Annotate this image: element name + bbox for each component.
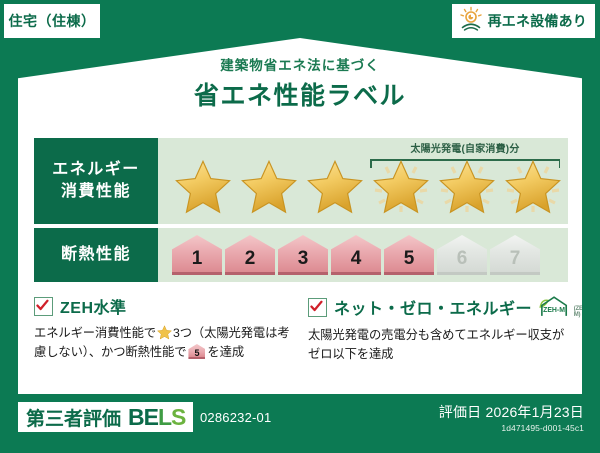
bels-logo: BELS [128, 406, 185, 429]
label-card: 建築物省エネ法に基づく 省エネ性能ラベル エネルギー 消費性能 太陽光発電(自家… [18, 38, 582, 394]
star-icon [373, 159, 429, 215]
criteria-section: ZEH水準 エネルギー消費性能で3つ（太陽光発電は考慮しない）、かつ断熱性能で5… [34, 294, 568, 386]
zeh-level-description: エネルギー消費性能で3つ（太陽光発電は考慮しない）、かつ断熱性能で5を達成 [34, 324, 294, 362]
renewable-energy-label: 再エネ設備あり [488, 11, 587, 31]
star-rating [158, 157, 564, 217]
energy-performance-row: エネルギー 消費性能 太陽光発電(自家消費)分 [34, 138, 568, 224]
evaluation-date-value: 2026年1月23日 [485, 404, 584, 420]
building-type-tag: 住宅（住棟） [4, 4, 100, 38]
badge-value: 5 [404, 249, 415, 275]
insulation-label-text: 断熱性能 [61, 244, 131, 266]
evaluation-date: 評価日 2026年1月23日 [439, 402, 584, 422]
energy-performance-body: 太陽光発電(自家消費)分 [158, 138, 568, 224]
renewable-energy-tag: 再エネ設備あり [452, 4, 595, 38]
inline-badge-value: 5 [188, 349, 205, 358]
bels-certification-mark: 第三者評価 BELS [18, 402, 193, 432]
badge-value: 2 [245, 249, 256, 275]
insulation-grade-badge: 1 [172, 235, 222, 275]
star-icon [241, 159, 297, 215]
evaluation-block: 評価日 2026年1月23日 1d471495-d001-45c1 [439, 402, 584, 433]
insulation-performance-row: 断熱性能 1234567 [34, 228, 568, 282]
solar-bracket-caption: 太陽光発電(自家消費)分 [370, 140, 560, 155]
insulation-performance-label: 断熱性能 [34, 228, 158, 282]
svg-text:ZEH-M: ZEH-M [543, 307, 565, 314]
sun-solar-icon [458, 6, 484, 37]
star-rating-item [172, 157, 234, 217]
star-icon [505, 159, 561, 215]
insulation-grade-badge: 3 [278, 235, 328, 275]
check-icon [34, 297, 53, 316]
zeh-level-header: ZEH水準 [34, 294, 294, 318]
criteria-zeh-level: ZEH水準 エネルギー消費性能で3つ（太陽光発電は考慮しない）、かつ断熱性能で5… [34, 294, 294, 386]
badge-value: 7 [510, 249, 521, 275]
star-rating-item [370, 157, 432, 217]
badge-value: 1 [192, 249, 203, 275]
insulation-grade-scale: 1234567 [158, 235, 540, 275]
net-zero-title: ネット・ゼロ・エネルギー [334, 295, 532, 319]
evaluation-id: 1d471495-d001-45c1 [439, 423, 584, 433]
net-zero-header: ネット・ゼロ・エネルギー ZEH-M (ZEH-M) [308, 294, 568, 320]
star-rating-item [304, 157, 366, 217]
zeh-m-logo: ZEH-M (ZEH-M) [537, 294, 593, 320]
energy-label-line1: エネルギー [52, 159, 140, 181]
star-icon [307, 159, 363, 215]
insulation-grade-badge: 4 [331, 235, 381, 275]
zeh-level-title: ZEH水準 [60, 294, 127, 318]
badge-value: 3 [298, 249, 309, 275]
star-icon [439, 159, 495, 215]
star-icon [175, 159, 231, 215]
energy-label-root: 住宅（住棟） 再エネ設備あり 建築物省エネ法に基づく [0, 0, 600, 453]
badge-value: 6 [457, 249, 468, 275]
insulation-badge-inline: 5 [188, 344, 205, 359]
energy-performance-label: エネルギー 消費性能 [34, 138, 158, 224]
title-block: 建築物省エネ法に基づく 省エネ性能ラベル [18, 54, 582, 112]
criteria-net-zero-energy: ネット・ゼロ・エネルギー ZEH-M (ZEH-M) 太陽光発電の売電分も含めて… [308, 294, 568, 386]
footer: 第三者評価 BELS 0286232-01 評価日 2026年1月23日 1d4… [0, 394, 600, 453]
bels-number: 0286232-01 [200, 410, 271, 425]
third-party-evaluation-label: 第三者評価 [26, 404, 121, 431]
zeh-text-part1: エネルギー消費性能で [34, 326, 156, 340]
badge-value: 4 [351, 249, 362, 275]
energy-label-line2: 消費性能 [61, 181, 131, 203]
star-rating-item [238, 157, 300, 217]
zeh-m-logo-sub: (ZEH-M) [574, 306, 593, 320]
star-rating-item [502, 157, 564, 217]
label-title: 省エネ性能ラベル [18, 76, 582, 112]
insulation-grade-badge: 6 [437, 235, 487, 275]
star-icon-inline [157, 325, 172, 340]
star-rating-item [436, 157, 498, 217]
insulation-grade-badge: 7 [490, 235, 540, 275]
insulation-grade-badge: 2 [225, 235, 275, 275]
check-icon [308, 298, 327, 317]
insulation-performance-body: 1234567 [158, 228, 568, 282]
evaluation-date-label: 評価日 [439, 404, 482, 420]
zeh-text-part3: を達成 [207, 345, 244, 359]
net-zero-description: 太陽光発電の売電分も含めてエネルギー収支がゼロ以下を達成 [308, 326, 568, 364]
insulation-grade-badge: 5 [384, 235, 434, 275]
label-subtitle: 建築物省エネ法に基づく [18, 54, 582, 74]
building-type-label: 住宅（住棟） [9, 11, 96, 31]
